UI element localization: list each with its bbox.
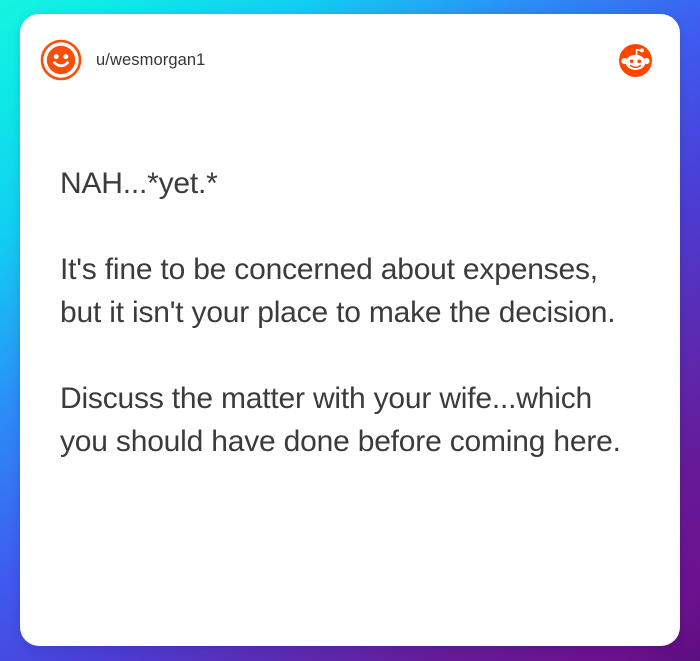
smiley-face-avatar-icon[interactable] [40, 39, 82, 81]
comment-paragraph: Discuss the matter with your wife...whic… [60, 377, 640, 463]
comment-paragraph: NAH...*yet.* [60, 162, 640, 205]
reddit-comment-card: u/wesmorgan1 [20, 14, 680, 646]
screenshot-root: u/wesmorgan1 [0, 0, 700, 661]
comment-paragraph: It's fine to be concerned about expenses… [60, 248, 640, 334]
username-label[interactable]: u/wesmorgan1 [96, 51, 205, 70]
comment-body: NAH...*yet.* It's fine to be concerned a… [60, 162, 640, 463]
comment-header: u/wesmorgan1 [20, 14, 680, 106]
reddit-snoo-logo-icon[interactable] [619, 44, 652, 77]
